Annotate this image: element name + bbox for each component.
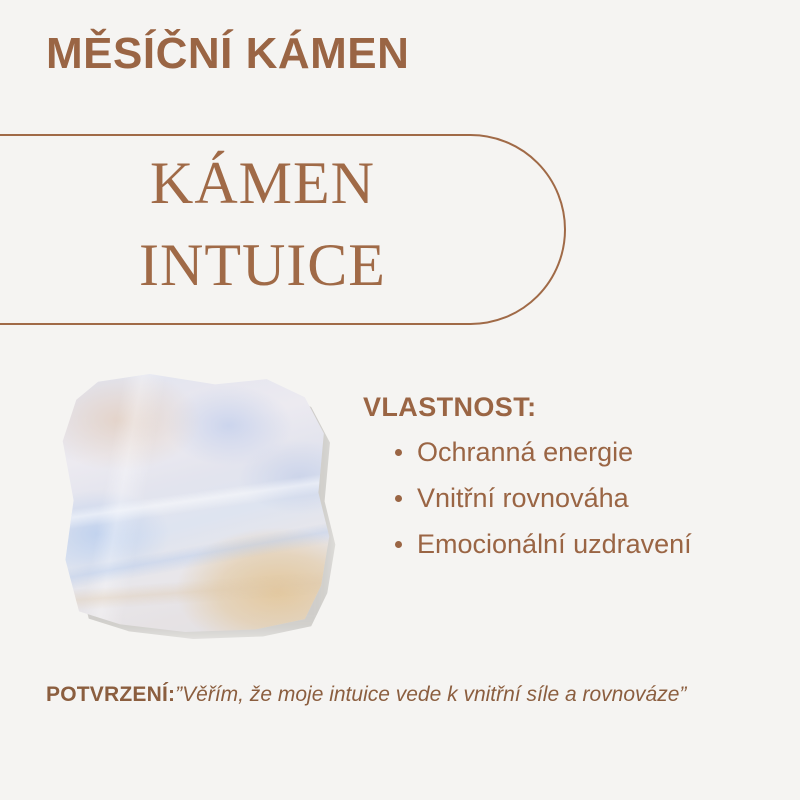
moonstone-poster: MĚSÍČNÍ KÁMEN KÁMEN INTUICE VLASTNOST: O…	[0, 0, 800, 800]
list-item-label: Ochranná energie	[417, 437, 633, 467]
badge-line-2: INTUICE	[0, 224, 525, 306]
badge-text: KÁMEN INTUICE	[0, 142, 525, 306]
properties-heading: VLASTNOST:	[363, 392, 783, 423]
moonstone-image	[54, 368, 346, 648]
list-item: Emocionální uzdravení	[363, 521, 783, 567]
affirmation-quote: ”Věřím, že moje intuice vede k vnitřní s…	[175, 683, 686, 706]
bullet-icon	[395, 495, 402, 502]
affirmation-label: POTVRZENÍ:	[46, 683, 175, 706]
moonstone-body	[60, 374, 332, 632]
moonstone-streaks	[60, 374, 332, 632]
page-title: MĚSÍČNÍ KÁMEN	[46, 30, 409, 78]
affirmation-section: POTVRZENÍ:”Věřím, že moje intuice vede k…	[46, 678, 746, 711]
badge-line-1: KÁMEN	[0, 142, 525, 224]
list-item-label: Emocionální uzdravení	[417, 529, 692, 559]
list-item-label: Vnitřní rovnováha	[417, 483, 629, 513]
list-item: Vnitřní rovnováha	[363, 475, 783, 521]
list-item: Ochranná energie	[363, 429, 783, 475]
properties-section: VLASTNOST: Ochranná energie Vnitřní rovn…	[363, 392, 783, 567]
properties-list: Ochranná energie Vnitřní rovnováha Emoci…	[363, 429, 783, 567]
bullet-icon	[395, 541, 402, 548]
bullet-icon	[395, 449, 402, 456]
